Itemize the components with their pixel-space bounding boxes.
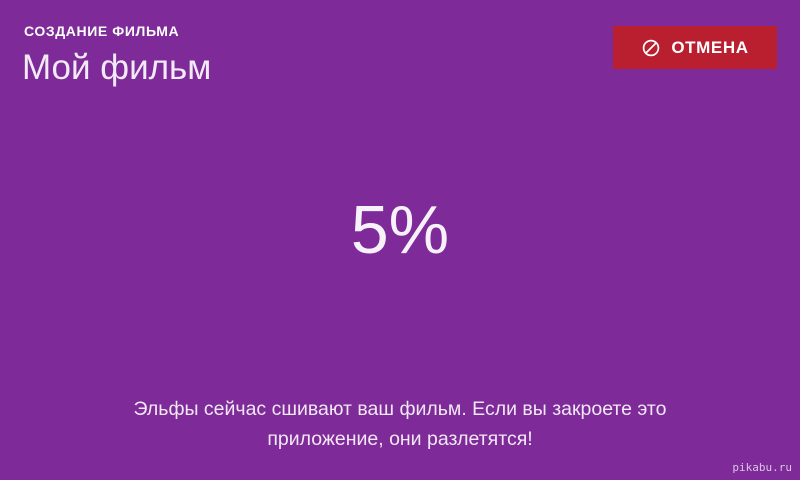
watermark-label: pikabu.ru (732, 461, 792, 475)
page-eyebrow-label: СОЗДАНИЕ ФИЛЬМА (24, 22, 179, 40)
status-message-line-1: Эльфы сейчас сшивают ваш фильм. Если вы … (80, 394, 720, 424)
page-title: Мой фильм (22, 46, 211, 90)
app-header: СОЗДАНИЕ ФИЛЬМА Мой фильм ОТМЕНА (0, 0, 800, 110)
status-message-line-2: приложение, они разлетятся! (80, 424, 720, 454)
cancel-button[interactable]: ОТМЕНА (613, 26, 777, 69)
cancel-button-label: ОТМЕНА (671, 38, 748, 58)
progress-area: 5% (0, 190, 800, 270)
movie-creation-progress-screen: СОЗДАНИЕ ФИЛЬМА Мой фильм ОТМЕНА 5% Эльф… (0, 0, 800, 480)
progress-percent-value: 5% (0, 190, 800, 270)
status-message: Эльфы сейчас сшивают ваш фильм. Если вы … (80, 394, 720, 454)
prohibited-circle-slash-icon (641, 38, 661, 58)
